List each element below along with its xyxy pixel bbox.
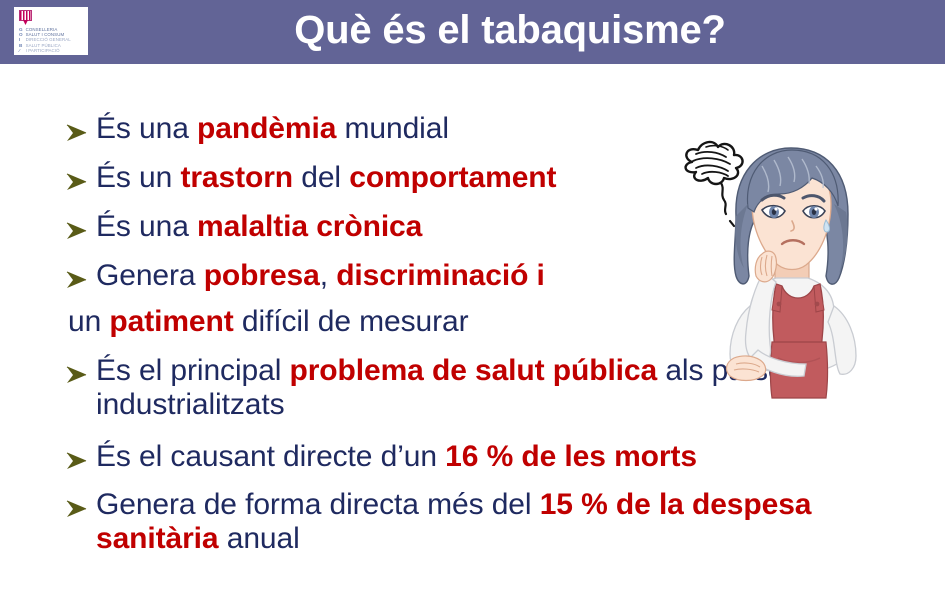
crest-stem (23, 20, 28, 25)
crest-bars (19, 10, 32, 21)
emphasis-text: discriminació i (336, 259, 545, 292)
bullet-despesa-text: Genera de forma directa més del 15 % de … (96, 488, 892, 556)
worried-woman-illustration (676, 126, 906, 408)
plain-text: És el causant directe d’un (96, 440, 445, 473)
arrow-bullet-icon (62, 354, 96, 384)
plain-text: Genera (96, 259, 204, 292)
plain-text: difícil de mesurar (234, 305, 469, 338)
bullet-morts-text: És el causant directe d’un 16 % de les m… (96, 440, 892, 474)
plain-text: del (293, 161, 349, 194)
logo-line-participacio: I PARTICIPACIÓ (26, 48, 71, 53)
plain-text: És una (96, 112, 197, 145)
arrow-bullet-icon (62, 210, 96, 240)
list-item: Genera de forma directa més del 15 % de … (62, 488, 892, 556)
emphasis-text: 16 % de les morts (445, 440, 697, 473)
slide: G O I B ⁄ CONSELLERIA SALUT I CONSUM DIR… (0, 0, 945, 604)
list-item: És una pandèmia mundial (62, 112, 702, 146)
strap-button-right (815, 302, 820, 307)
list-item: És un trastorn del comportament (62, 161, 722, 195)
bullet-pobresa-text: Genera pobresa, discriminació i (96, 259, 702, 293)
list-item: És una malaltia crònica (62, 210, 702, 244)
plain-text: , (320, 259, 336, 292)
bullet-malaltia-text: És una malaltia crònica (96, 210, 702, 244)
strap-button-left (777, 302, 782, 307)
balearic-crest-icon (19, 10, 32, 25)
page-title: Què és el tabaquisme? (110, 0, 910, 64)
hand-lower (727, 356, 766, 381)
list-item-continuation: un patiment difícil de mesurar (0, 305, 708, 339)
plain-text: Genera de forma directa més del (96, 488, 540, 521)
emphasis-text: malaltia crònica (197, 210, 422, 243)
list-item: És el causant directe d’un 16 % de les m… (62, 440, 892, 474)
bullet-pandemia-text: És una pandèmia mundial (96, 112, 702, 146)
plain-text: anual (219, 522, 300, 555)
arrow-bullet-icon (62, 112, 96, 142)
plain-text: És una (96, 210, 197, 243)
plain-text: un (68, 305, 109, 338)
emphasis-text: pobresa (204, 259, 320, 292)
emphasis-text: pandèmia (197, 112, 336, 145)
arrow-bullet-icon (62, 488, 96, 518)
emphasis-text: trastorn (180, 161, 293, 194)
list-item: Genera pobresa, discriminació i (62, 259, 702, 293)
bullet-patiment-cont-text: un patiment difícil de mesurar (68, 305, 708, 339)
emphasis-text: patiment (109, 305, 233, 338)
arrow-bullet-icon (62, 440, 96, 470)
logo-words: CONSELLERIA SALUT I CONSUM DIRECCIÓ GENE… (26, 27, 71, 53)
plain-text: És un (96, 161, 180, 194)
emphasis-text: comportament (349, 161, 556, 194)
logo-text-block: G O I B ⁄ CONSELLERIA SALUT I CONSUM DIR… (19, 27, 84, 53)
arrow-bullet-icon (62, 259, 96, 289)
plain-text: mundial (336, 112, 449, 145)
bullet-list: És una pandèmia mundial És un trastorn d… (0, 64, 945, 604)
plain-text: És el principal (96, 354, 290, 387)
header-bar: G O I B ⁄ CONSELLERIA SALUT I CONSUM DIR… (0, 0, 945, 64)
logo-initials: G O I B ⁄ (19, 27, 23, 53)
arrow-bullet-icon (62, 161, 96, 191)
bullet-trastorn-text: És un trastorn del comportament (96, 161, 722, 195)
emphasis-text: problema de salut pública (290, 354, 658, 387)
logo-initial-slash: ⁄ (19, 48, 23, 53)
govern-illes-balears-logo: G O I B ⁄ CONSELLERIA SALUT I CONSUM DIR… (14, 7, 88, 55)
